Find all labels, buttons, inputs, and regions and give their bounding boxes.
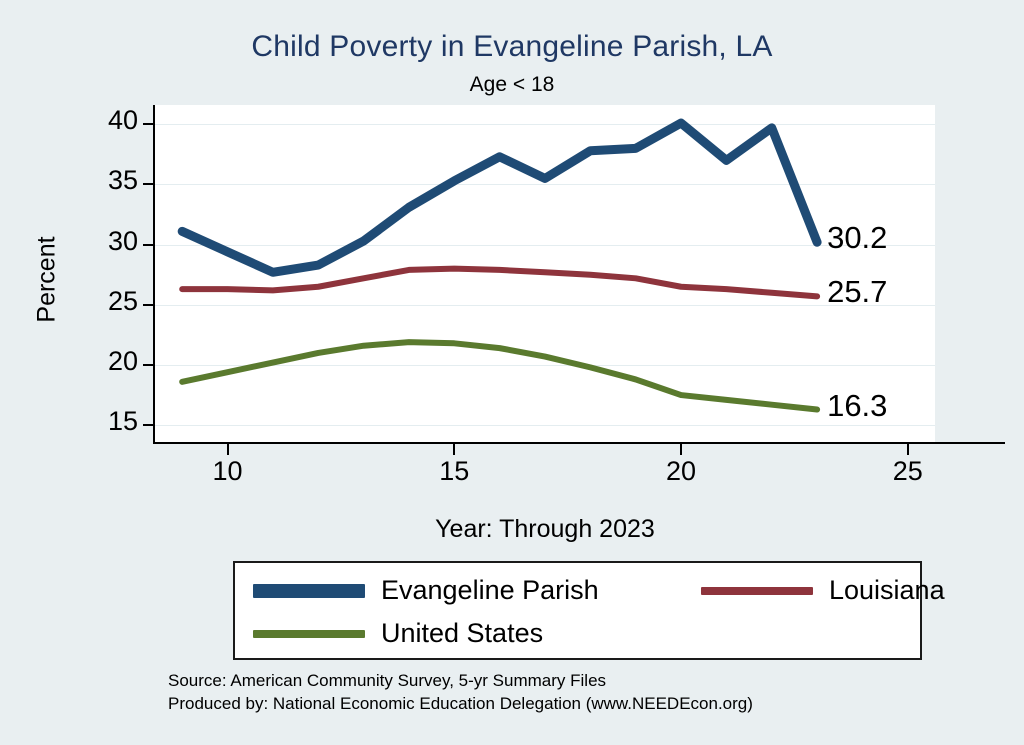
legend-swatch <box>253 630 365 638</box>
chart-legend: Evangeline ParishLouisianaUnited States <box>233 561 922 660</box>
series-end-label: 25.7 <box>827 274 887 310</box>
gridline <box>155 425 935 426</box>
legend-swatch <box>253 584 365 598</box>
legend-item[interactable]: Evangeline Parish <box>253 575 599 606</box>
x-tick-mark <box>907 444 909 455</box>
legend-label: Louisiana <box>829 575 945 606</box>
x-tick-label: 20 <box>666 456 696 487</box>
x-tick-mark <box>227 444 229 455</box>
x-axis-line <box>153 442 1005 444</box>
legend-item[interactable]: Louisiana <box>701 575 945 606</box>
gridline <box>155 365 935 366</box>
x-axis-label: Year: Through 2023 <box>155 515 935 544</box>
legend-swatch <box>701 587 813 595</box>
legend-item[interactable]: United States <box>253 618 543 649</box>
y-tick-label: 35 <box>78 165 138 196</box>
series-end-label: 30.2 <box>827 220 887 256</box>
y-axis-label: Percent <box>33 205 62 355</box>
y-tick-label: 20 <box>78 346 138 377</box>
gridline <box>155 305 935 306</box>
gridline <box>155 245 935 246</box>
x-tick-label: 10 <box>213 456 243 487</box>
x-tick-label: 15 <box>439 456 469 487</box>
chart-root: Child Poverty in Evangeline Parish, LA A… <box>0 0 1024 745</box>
footer-credits: Source: American Community Survey, 5-yr … <box>168 669 753 716</box>
gridline <box>155 124 935 125</box>
y-tick-label: 15 <box>78 406 138 437</box>
legend-label: United States <box>381 618 543 649</box>
legend-label: Evangeline Parish <box>381 575 599 606</box>
plot-background <box>155 105 935 442</box>
y-axis-line <box>153 105 155 444</box>
footer-producer: Produced by: National Economic Education… <box>168 692 753 715</box>
x-tick-label: 25 <box>893 456 923 487</box>
x-tick-mark <box>453 444 455 455</box>
series-end-label: 16.3 <box>827 388 887 424</box>
x-tick-mark <box>680 444 682 455</box>
y-tick-label: 25 <box>78 286 138 317</box>
y-tick-label: 40 <box>78 105 138 136</box>
y-tick-label: 30 <box>78 226 138 257</box>
gridline <box>155 184 935 185</box>
footer-source: Source: American Community Survey, 5-yr … <box>168 669 753 692</box>
